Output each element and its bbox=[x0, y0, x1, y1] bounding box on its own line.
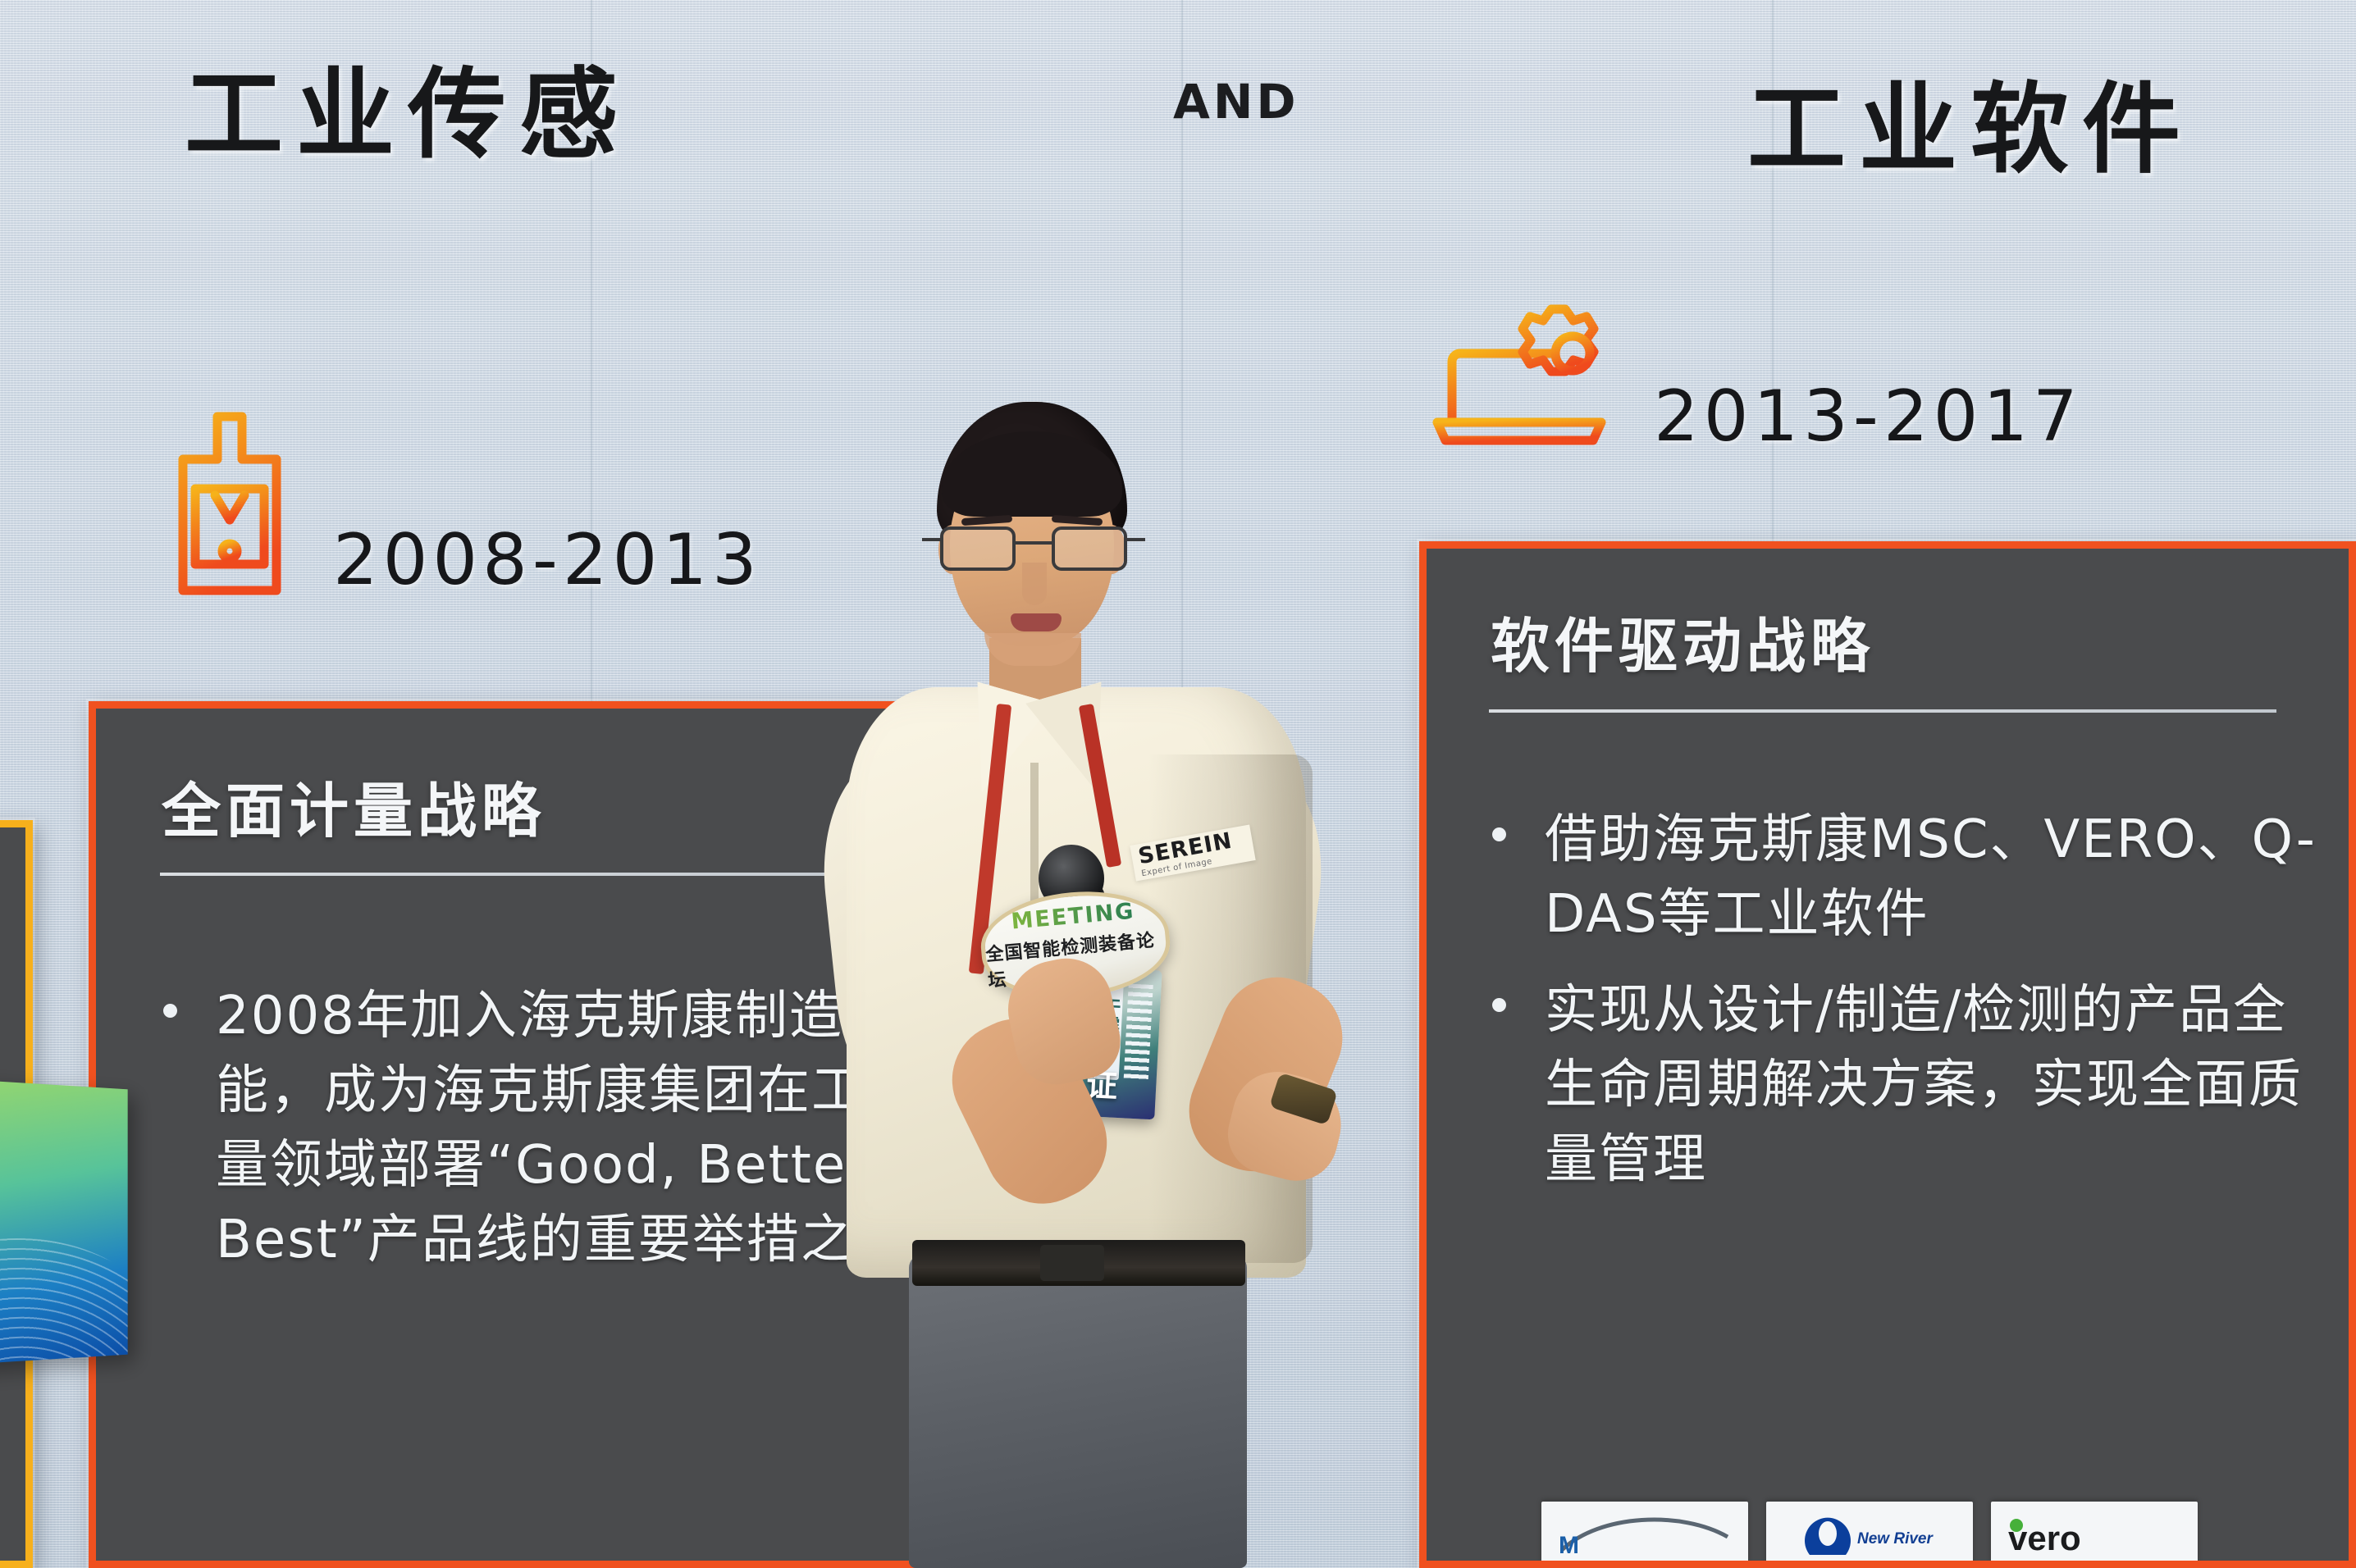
laptop-gear-icon bbox=[1427, 291, 1624, 458]
belt-buckle bbox=[1040, 1245, 1104, 1281]
headline-conjunction: AND bbox=[1173, 74, 1299, 130]
mouth bbox=[1011, 613, 1062, 631]
right-panel-bullets: 借助海克斯康MSC、VERO、Q-DAS等工业软件 实现从设计/制造/检测的产品… bbox=[1474, 803, 2329, 1218]
coordinate-measuring-machine-icon bbox=[156, 410, 304, 602]
slide-panel-industrial-software: 软件驱动战略 借助海克斯康MSC、VERO、Q-DAS等工业软件 实现从设计/制… bbox=[1419, 541, 2356, 1568]
left-column-period: 2008-2013 bbox=[333, 525, 762, 602]
headline-right-text: 工业软件 bbox=[1747, 49, 2194, 192]
list-item: 实现从设计/制造/检测的产品全生命周期解决方案，实现全面质量管理 bbox=[1474, 973, 2329, 1197]
headline-left-text: 工业传感 bbox=[185, 34, 631, 177]
right-panel-divider bbox=[1489, 709, 2276, 713]
left-temple bbox=[922, 538, 940, 541]
eyeglasses bbox=[937, 526, 1130, 574]
left-column-header: 2008-2013 bbox=[156, 410, 762, 602]
slide-headline: 工业传感 AND 工业软件 bbox=[0, 34, 2356, 166]
svg-text:M: M bbox=[1559, 1532, 1579, 1558]
logo-label: New River bbox=[1857, 1530, 1934, 1547]
vero-software-logo: vero bbox=[1991, 1502, 2198, 1561]
glasses-bridge bbox=[1016, 541, 1052, 545]
list-item: 借助海克斯康MSC、VERO、Q-DAS等工业软件 bbox=[1474, 803, 2329, 952]
right-lens bbox=[1052, 526, 1127, 571]
right-column-header: 2013-2017 bbox=[1427, 291, 2083, 458]
speaker-person: SEREIN Expert of Image 干震涛 证 MEETING 全国智… bbox=[722, 402, 1345, 1568]
new-river-kinematics-logo: New River bbox=[1766, 1502, 1973, 1561]
right-temple bbox=[1127, 538, 1145, 541]
stage-photo: 工业传感 AND 工业软件 2 bbox=[0, 0, 2356, 1568]
left-lens bbox=[940, 526, 1016, 571]
msc-software-logo: M bbox=[1541, 1502, 1748, 1561]
right-panel-title: 软件驱动战略 bbox=[1491, 598, 1874, 684]
trousers bbox=[909, 1255, 1247, 1568]
stage-poster: 论坛 bbox=[0, 1075, 128, 1369]
poster-wave-graphic bbox=[0, 1238, 128, 1370]
left-panel-title: 全面计量战略 bbox=[162, 763, 546, 849]
sponsor-logo-strip: M New River vero bbox=[1541, 1502, 2198, 1561]
logo-label: vero bbox=[2008, 1519, 2081, 1557]
right-column-period: 2013-2017 bbox=[1654, 381, 2083, 458]
